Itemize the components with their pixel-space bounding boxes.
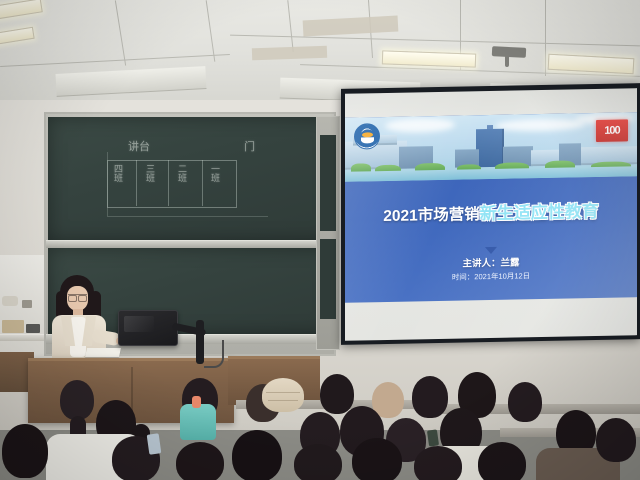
student-head — [320, 374, 354, 414]
ledge-object — [2, 320, 24, 333]
projector-mount — [492, 46, 526, 58]
student-head — [596, 418, 636, 462]
ledge-object — [26, 324, 40, 333]
chalkboard-side-panel — [316, 116, 340, 350]
monitor-arm-post — [196, 320, 204, 364]
projection-surface: 100 2021市场营销新生适应性教育 主讲人：兰露 时间：2021年10月12… — [345, 88, 637, 341]
slide-divider-arrow — [485, 247, 497, 254]
campus-tower-building — [476, 129, 504, 168]
papers-on-podium — [85, 348, 121, 357]
podium-monitor — [118, 310, 178, 346]
bucket-hat — [262, 378, 304, 412]
projector-mount-rod — [505, 55, 509, 67]
projection-screen: 100 2021市场营销新生适应性教育 主讲人：兰露 时间：2021年10月12… — [341, 83, 640, 345]
teal-backpack — [180, 404, 216, 440]
chalk-class-2: 二班 — [177, 164, 186, 182]
ledge-object — [22, 300, 32, 308]
smartphone[interactable] — [427, 429, 439, 446]
student-head — [352, 438, 402, 480]
monitor-screen-sheen — [124, 316, 154, 332]
slide-title-part-2: 新生适应性教育 — [480, 202, 599, 223]
slide-title: 2021市场营销新生适应性教育 — [345, 196, 637, 227]
smartphone[interactable] — [147, 433, 162, 454]
glasses-icon — [68, 294, 87, 300]
water-bottle — [192, 396, 201, 408]
chalk-seating-outer — [107, 152, 268, 217]
anniversary-100-logo: 100 — [596, 119, 628, 142]
ledge-object — [2, 296, 18, 306]
presentation-slide: 100 2021市场营销新生适应性教育 主讲人：兰露 时间：2021年10月12… — [345, 112, 637, 303]
monitor-cable — [204, 340, 224, 368]
student-head — [294, 444, 342, 480]
student-head — [2, 424, 48, 478]
student-head — [412, 376, 448, 418]
lecture-hall-photo: 讲台 门 四班 三班 二班 一班 — [0, 0, 640, 480]
chalk-class-4: 四班 — [113, 164, 122, 182]
student-head — [60, 380, 94, 420]
chalk-class-1: 一班 — [210, 164, 219, 182]
chalk-class-3: 三班 — [145, 164, 154, 182]
student-audience — [0, 372, 640, 480]
student-head — [508, 382, 542, 422]
wall-ledge — [0, 334, 44, 341]
chalk-rail — [46, 240, 334, 248]
student-head — [478, 442, 526, 480]
student-head — [414, 446, 462, 480]
campus-panorama-photo: 100 — [345, 112, 637, 182]
slide-title-part-1: 2021市场营销 — [383, 206, 479, 225]
student-head — [176, 442, 224, 480]
student-head — [232, 430, 282, 480]
